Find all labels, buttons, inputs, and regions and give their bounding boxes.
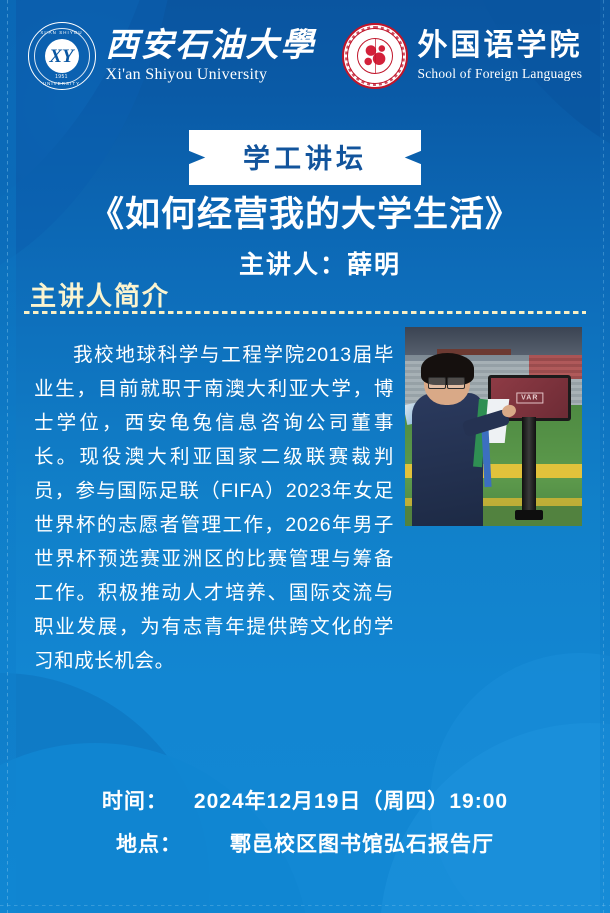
seal-year-text: 1951 (29, 74, 95, 80)
university-name-cn: 西安石油大學 (106, 30, 316, 63)
university-name-block: 西安石油大學 Xi'an Shiyou University (106, 30, 316, 83)
seal-bottom-arc-text: UNIVERSITY (29, 81, 95, 86)
ribbon-banner: 学工讲坛 (189, 130, 421, 185)
event-info: 时间： 2024年12月19日（周四）19:00 地点： 鄠邑校区图书馆弘石报告… (0, 785, 610, 871)
event-time-row: 时间： 2024年12月19日（周四）19:00 (0, 785, 610, 815)
seal-monogram-text: XY (49, 47, 73, 66)
page-title: 《如何经营我的大学生活》 (0, 186, 610, 237)
speaker-photo: VAR (405, 327, 582, 526)
event-place-row: 地点： 鄠邑校区图书馆弘石报告厅 (0, 828, 610, 858)
time-value: 2024年12月19日（周四）19:00 (194, 785, 508, 815)
school-name-cn: 外国语学院 (418, 31, 583, 61)
place-value: 鄠邑校区图书馆弘石报告厅 (208, 828, 494, 858)
university-seal-icon: XI'AN SHIYOU XY 1951 UNIVERSITY (28, 22, 96, 90)
globe-icon (357, 38, 393, 74)
seal-monogram: XY (45, 39, 79, 73)
decor-dotted-rule-bottom (0, 905, 610, 906)
university-logo-group: XI'AN SHIYOU XY 1951 UNIVERSITY 西安石油大學 X… (28, 22, 316, 90)
photo-monitor-base (515, 510, 543, 520)
school-logo-group: 外国语学院 School of Foreign Languages (342, 23, 583, 89)
decor-circle-bottom-right (430, 653, 610, 913)
ribbon-label: 学工讲坛 (243, 137, 367, 176)
ribbon-banner-wrap: 学工讲坛 (0, 130, 610, 185)
place-label: 地点： (116, 828, 208, 858)
var-screen-label: VAR (516, 392, 543, 403)
poster-root: XI'AN SHIYOU XY 1951 UNIVERSITY 西安石油大學 X… (0, 0, 610, 913)
photo-glasses-right (447, 377, 465, 389)
poster-header: XI'AN SHIYOU XY 1951 UNIVERSITY 西安石油大學 X… (0, 0, 610, 112)
photo-person-suit (412, 393, 483, 526)
school-seal-icon (342, 23, 408, 89)
speaker-bio-text: 我校地球科学与工程学院2013届毕业生，目前就职于南澳大利亚大学，博士学位，西安… (34, 338, 394, 678)
university-name-en: Xi'an Shiyou University (106, 67, 316, 83)
dashed-divider (24, 311, 586, 314)
photo-glasses-left (428, 377, 446, 389)
school-name-en: School of Foreign Languages (418, 67, 583, 81)
section-heading: 主讲人简介 (30, 276, 170, 313)
seal-top-arc-text: XI'AN SHIYOU (29, 30, 95, 35)
time-label: 时间： (102, 785, 194, 815)
school-name-block: 外国语学院 School of Foreign Languages (418, 31, 583, 81)
photo-monitor-pole (522, 417, 536, 513)
